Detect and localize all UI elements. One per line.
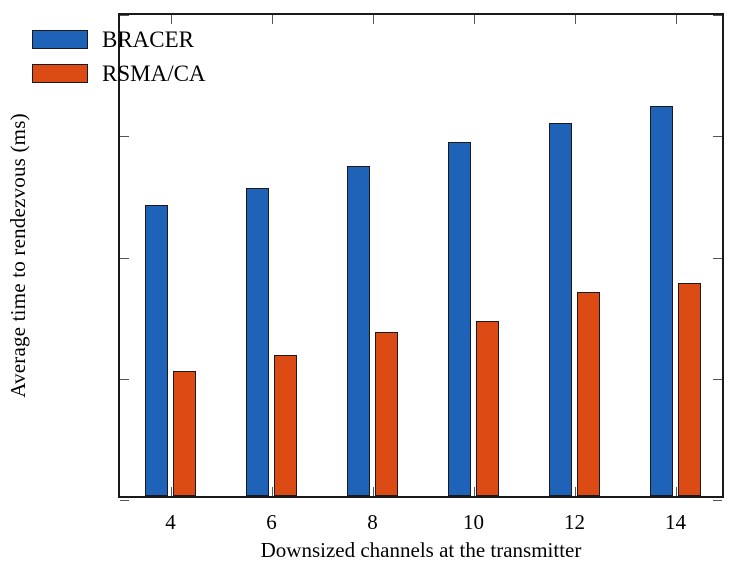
x-axis-tick-mark [676,487,677,496]
bar-bracer-6 [246,188,269,496]
legend-label-rsma-ca: RSMA/CA [102,62,206,85]
x-axis-tick-label: 10 [439,512,509,533]
legend-swatch-rsma-ca [32,64,88,83]
x-axis-tick-mark [575,15,576,24]
y-axis-tick-mark [120,136,129,137]
x-axis-tick-mark [272,15,273,24]
bar-rsma-ca-8 [375,332,398,496]
bar-chart-figure: Average time to rendezvous (ms) 80901001… [0,0,736,578]
x-axis-tick-mark [272,487,273,496]
bar-rsma-ca-12 [577,292,600,496]
y-axis-tick-mark [120,15,129,16]
legend-swatch-bracer [32,30,88,49]
y-axis-title-text: Average time to rendezvous (ms) [6,113,31,398]
y-axis-tick-mark [713,136,722,137]
x-axis-tick-label: 8 [338,512,408,533]
x-axis-tick-mark [171,487,172,496]
x-axis-tick-mark [474,487,475,496]
bar-bracer-4 [145,205,168,496]
x-axis-tick-label: 6 [237,512,307,533]
bar-bracer-12 [549,123,572,496]
y-axis-tick-mark [713,258,722,259]
bar-rsma-ca-4 [173,371,196,496]
bar-bracer-10 [448,142,471,496]
bar-rsma-ca-14 [678,283,701,496]
x-axis-tick-mark [373,15,374,24]
x-axis-tick-mark [373,487,374,496]
x-axis-tick-mark [474,15,475,24]
legend-label-bracer: BRACER [102,28,194,51]
x-axis-tick-mark [676,15,677,24]
y-axis-tick-mark [713,500,722,501]
x-axis-title: Downsized channels at the transmitter [118,538,724,563]
legend-item: RSMA/CA [32,56,206,90]
y-axis-tick-mark [120,500,129,501]
x-axis-tick-label: 4 [136,512,206,533]
bar-rsma-ca-6 [274,355,297,496]
bar-bracer-14 [650,106,673,496]
y-axis-tick-mark [120,258,129,259]
legend: BRACER RSMA/CA [26,20,212,92]
x-axis-tick-mark [575,487,576,496]
legend-item: BRACER [32,22,206,56]
bar-bracer-8 [347,166,370,496]
y-axis-tick-mark [713,15,722,16]
y-axis-tick-mark [713,379,722,380]
x-axis-tick-label: 12 [540,512,610,533]
y-axis-tick-mark [120,379,129,380]
bar-rsma-ca-10 [476,321,499,496]
x-axis-tick-label: 14 [641,512,711,533]
